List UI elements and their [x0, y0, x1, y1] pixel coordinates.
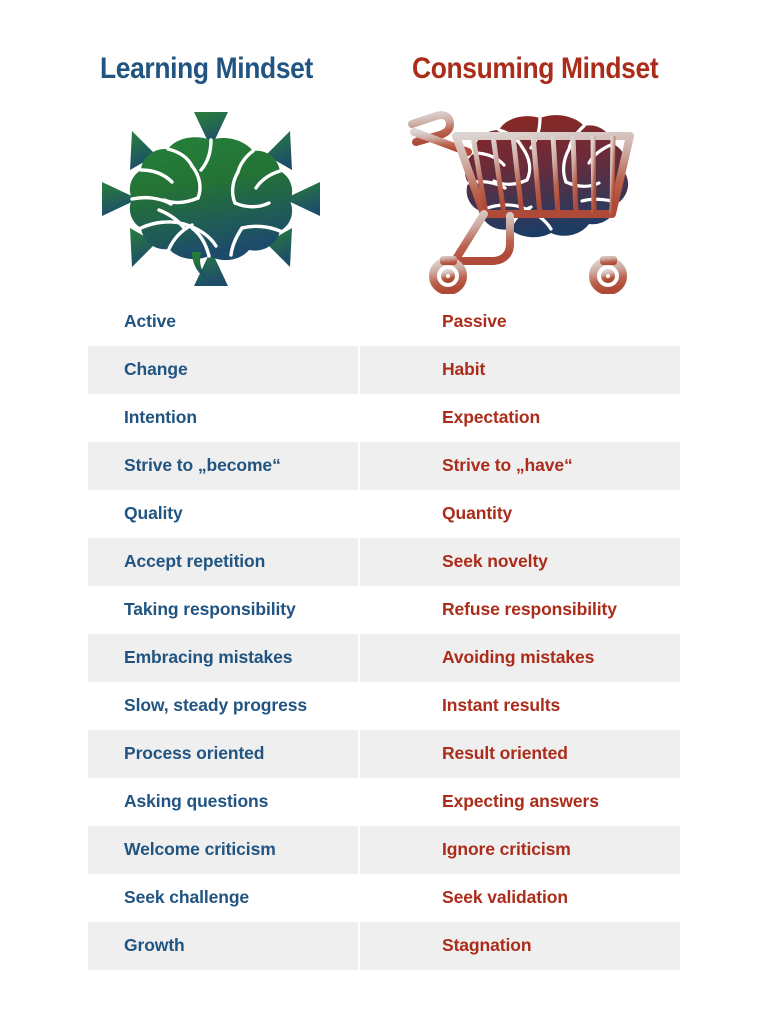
comparison-table: Active Passive Change Habit Intention Ex… [88, 298, 680, 970]
table-row: Seek challenge Seek validation [88, 874, 680, 922]
table-cell-consuming: Seek novelty [360, 538, 680, 586]
table-row: Embracing mistakes Avoiding mistakes [88, 634, 680, 682]
table-cell-text: Strive to „become“ [124, 457, 281, 475]
shopping-cart-with-brain-svg [392, 104, 658, 294]
table-cell-learning: Welcome criticism [88, 826, 358, 874]
table-cell-text: Ignore criticism [442, 841, 571, 859]
table-cell-text: Expecting answers [442, 793, 599, 811]
table-cell-learning: Strive to „become“ [88, 442, 358, 490]
table-cell-text: Active [124, 313, 176, 331]
table-cell-text: Avoiding mistakes [442, 649, 594, 667]
table-cell-learning: Taking responsibility [88, 586, 358, 634]
table-row: Change Habit [88, 346, 680, 394]
table-cell-text: Instant results [442, 697, 560, 715]
table-cell-text: Slow, steady progress [124, 697, 307, 715]
table-cell-learning: Active [88, 298, 358, 346]
table-row: Strive to „become“ Strive to „have“ [88, 442, 680, 490]
table-cell-text: Passive [442, 313, 507, 331]
table-cell-text: Seek challenge [124, 889, 249, 907]
headings-row: Learning Mindset Consuming Mindset [0, 52, 768, 98]
table-cell-text: Stagnation [442, 937, 531, 955]
brain-with-rays-svg [96, 104, 326, 294]
table-cell-text: Seek novelty [442, 553, 548, 571]
table-cell-text: Quantity [442, 505, 512, 523]
table-cell-text: Change [124, 361, 188, 379]
table-cell-consuming: Passive [360, 298, 680, 346]
table-cell-consuming: Result oriented [360, 730, 680, 778]
table-cell-consuming: Instant results [360, 682, 680, 730]
table-cell-learning: Intention [88, 394, 358, 442]
table-cell-text: Taking responsibility [124, 601, 296, 619]
table-cell-learning: Growth [88, 922, 358, 970]
brain-shape [130, 137, 292, 278]
table-cell-text: Seek validation [442, 889, 568, 907]
icons-row [0, 104, 768, 294]
table-cell-consuming: Stagnation [360, 922, 680, 970]
table-cell-consuming: Seek validation [360, 874, 680, 922]
table-cell-consuming: Refuse responsibility [360, 586, 680, 634]
table-row: Active Passive [88, 298, 680, 346]
table-cell-text: Result oriented [442, 745, 568, 763]
table-cell-consuming: Avoiding mistakes [360, 634, 680, 682]
table-row: Asking questions Expecting answers [88, 778, 680, 826]
table-cell-text: Strive to „have“ [442, 457, 573, 475]
table-cell-text: Embracing mistakes [124, 649, 292, 667]
brain-with-rays-icon [96, 104, 326, 294]
table-cell-learning: Quality [88, 490, 358, 538]
table-cell-text: Expectation [442, 409, 540, 427]
page-title-consuming-mindset: Consuming Mindset [412, 52, 658, 86]
table-cell-text: Asking questions [124, 793, 268, 811]
table-cell-text: Process oriented [124, 745, 264, 763]
table-cell-text: Accept repetition [124, 553, 265, 571]
table-cell-text: Habit [442, 361, 485, 379]
table-row: Taking responsibility Refuse responsibil… [88, 586, 680, 634]
table-cell-consuming: Strive to „have“ [360, 442, 680, 490]
table-row: Accept repetition Seek novelty [88, 538, 680, 586]
table-cell-consuming: Expectation [360, 394, 680, 442]
table-cell-consuming: Expecting answers [360, 778, 680, 826]
table-cell-learning: Asking questions [88, 778, 358, 826]
table-row: Process oriented Result oriented [88, 730, 680, 778]
table-row: Welcome criticism Ignore criticism [88, 826, 680, 874]
infographic-page: Learning Mindset Consuming Mindset [0, 0, 768, 1024]
table-cell-consuming: Quantity [360, 490, 680, 538]
table-row: Slow, steady progress Instant results [88, 682, 680, 730]
table-cell-text: Quality [124, 505, 183, 523]
table-cell-learning: Seek challenge [88, 874, 358, 922]
table-cell-text: Refuse responsibility [442, 601, 617, 619]
table-cell-learning: Process oriented [88, 730, 358, 778]
table-cell-learning: Embracing mistakes [88, 634, 358, 682]
page-title-learning-mindset: Learning Mindset [100, 52, 313, 86]
table-cell-learning: Change [88, 346, 358, 394]
table-cell-text: Intention [124, 409, 197, 427]
table-row: Quality Quantity [88, 490, 680, 538]
table-cell-learning: Slow, steady progress [88, 682, 358, 730]
table-row: Intention Expectation [88, 394, 680, 442]
table-cell-consuming: Ignore criticism [360, 826, 680, 874]
table-cell-learning: Accept repetition [88, 538, 358, 586]
table-cell-consuming: Habit [360, 346, 680, 394]
table-cell-text: Growth [124, 937, 185, 955]
table-row: Growth Stagnation [88, 922, 680, 970]
table-cell-text: Welcome criticism [124, 841, 276, 859]
shopping-cart-with-brain-icon [392, 104, 658, 294]
